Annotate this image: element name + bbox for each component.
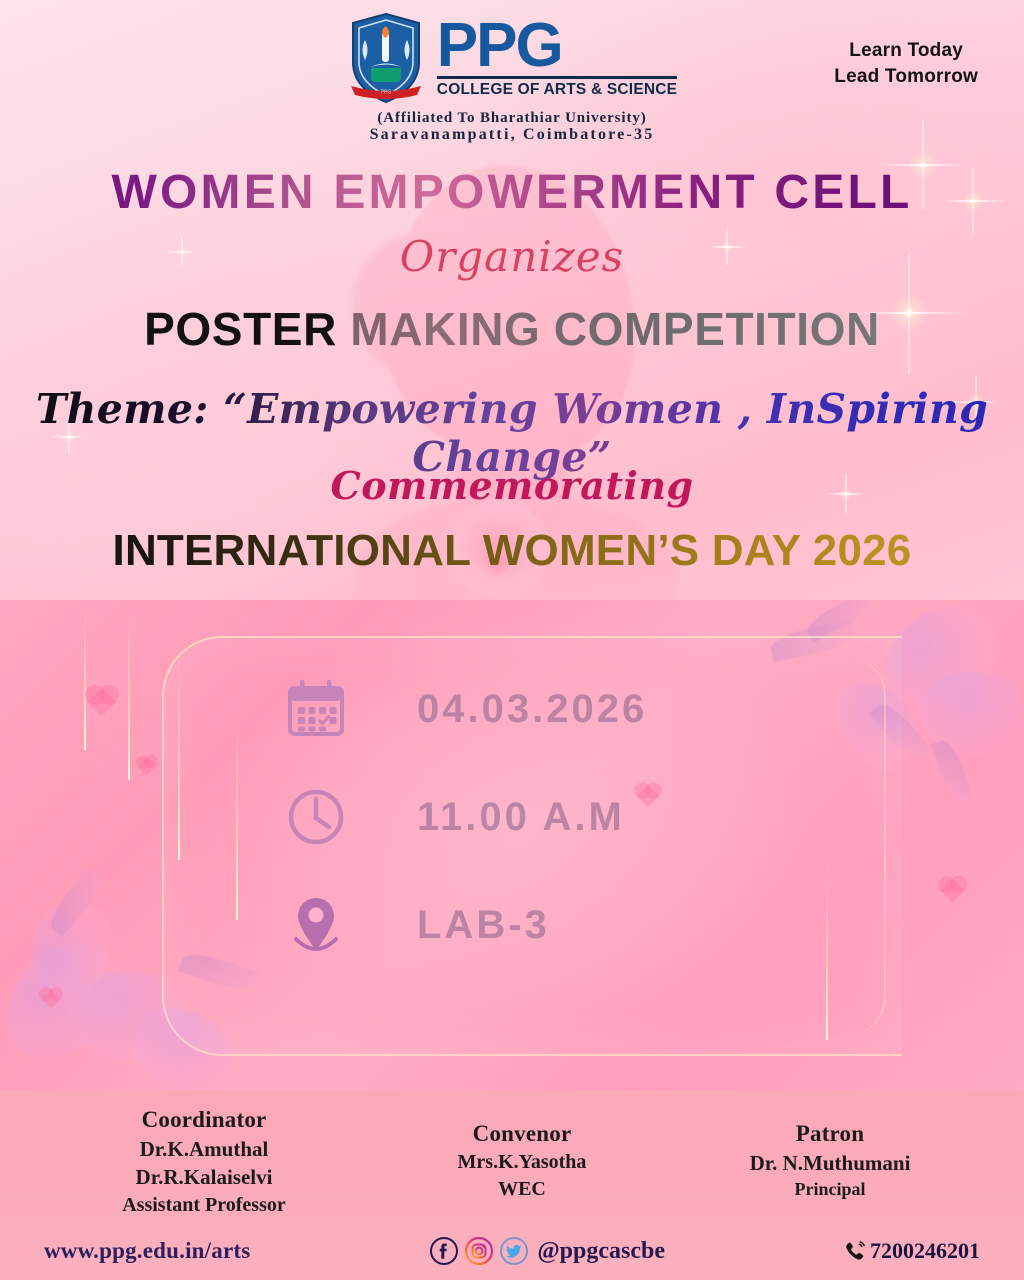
svg-text:PPG: PPG xyxy=(381,90,392,96)
event-title: POSTER MAKING COMPETITION xyxy=(0,302,1024,356)
commemorating-script: Commemorating xyxy=(0,463,1024,508)
address-text: Saravanampatti, Coimbatore-35 xyxy=(0,126,1024,144)
organiser-title: WOMEN EMPOWERMENT CELL xyxy=(0,165,1024,220)
heart-decoration xyxy=(41,989,61,1009)
footer-row: www.ppg.edu.in/arts xyxy=(0,1236,1024,1266)
phone-number[interactable]: 7200246201 xyxy=(870,1238,980,1264)
heart-decoration xyxy=(940,878,964,902)
event-title-rest: MAKING COMPETITION xyxy=(350,303,880,355)
facebook-icon[interactable] xyxy=(429,1236,459,1266)
credit-coordinator: Coordinator Dr.K.Amuthal Dr.R.Kalaiselvi… xyxy=(44,1104,364,1219)
light-streak-decoration xyxy=(128,610,130,780)
social-handle[interactable]: @ppgcascbe xyxy=(537,1238,665,1265)
top-hero-section: PPG PPG COLLEGE OF ARTS & SCIENCE (Affil… xyxy=(0,0,1024,600)
detail-row-time: 11.00 A.M xyxy=(285,786,647,848)
detail-row-venue: LAB-3 xyxy=(285,894,647,956)
credit-name: Dr.K.Amuthal xyxy=(44,1135,364,1163)
credit-convenor: Convenor Mrs.K.Yasotha WEC xyxy=(387,1104,657,1203)
calendar-icon xyxy=(285,678,347,740)
detail-value-time: 11.00 A.M xyxy=(417,795,625,840)
credit-name: Dr. N.Muthumani xyxy=(680,1149,980,1177)
logo-wordmark: PPG xyxy=(437,17,562,74)
poster-canvas: PPG PPG COLLEGE OF ARTS & SCIENCE (Affil… xyxy=(0,0,1024,1280)
heart-decoration xyxy=(137,757,155,775)
credits-row: Coordinator Dr.K.Amuthal Dr.R.Kalaiselvi… xyxy=(0,1104,1024,1219)
occasion-title: INTERNATIONAL WOMEN’S DAY 2026 xyxy=(0,526,1024,576)
college-crest-shield-icon: PPG xyxy=(347,12,425,104)
social-links: @ppgcascbe xyxy=(429,1236,665,1266)
organizes-script: Organizes xyxy=(0,232,1024,281)
affiliation-text: (Affiliated To Bharathiar University) xyxy=(0,110,1024,127)
detail-value-date: 04.03.2026 xyxy=(417,687,647,732)
credit-name: Mrs.K.Yasotha xyxy=(387,1149,657,1176)
credit-designation: WEC xyxy=(387,1176,657,1203)
credit-role-label: Coordinator xyxy=(44,1104,364,1135)
website-link[interactable]: www.ppg.edu.in/arts xyxy=(44,1238,250,1264)
heart-decoration xyxy=(88,688,116,716)
tagline-line-2: Lead Tomorrow xyxy=(834,64,978,90)
credit-name: Dr.R.Kalaiselvi xyxy=(44,1163,364,1191)
credit-designation: Principal xyxy=(680,1177,980,1201)
credit-designation: Assistant Professor xyxy=(44,1192,364,1219)
credit-patron: Patron Dr. N.Muthumani Principal xyxy=(680,1104,980,1202)
location-pin-icon xyxy=(285,894,347,956)
logo-subtitle: COLLEGE OF ARTS & SCIENCE xyxy=(437,81,677,99)
logo-divider xyxy=(437,76,677,79)
event-details-section: 04.03.2026 11.00 A.M xyxy=(0,600,1024,1090)
tagline-line-1: Learn Today xyxy=(834,38,978,64)
clock-icon xyxy=(285,786,347,848)
tagline: Learn Today Lead Tomorrow xyxy=(834,38,978,89)
instagram-icon[interactable] xyxy=(464,1236,494,1266)
detail-row-date: 04.03.2026 xyxy=(285,678,647,740)
credit-role-label: Patron xyxy=(680,1118,980,1149)
light-streak-decoration xyxy=(84,600,86,750)
detail-value-venue: LAB-3 xyxy=(417,903,550,948)
phone-contact: 7200246201 xyxy=(844,1238,980,1264)
twitter-icon[interactable] xyxy=(499,1236,529,1266)
details-list: 04.03.2026 11.00 A.M xyxy=(285,678,647,956)
phone-icon xyxy=(844,1240,866,1262)
credit-role-label: Convenor xyxy=(387,1118,657,1149)
credits-section: Coordinator Dr.K.Amuthal Dr.R.Kalaiselvi… xyxy=(0,1090,1024,1280)
event-title-bold: POSTER xyxy=(144,303,337,355)
